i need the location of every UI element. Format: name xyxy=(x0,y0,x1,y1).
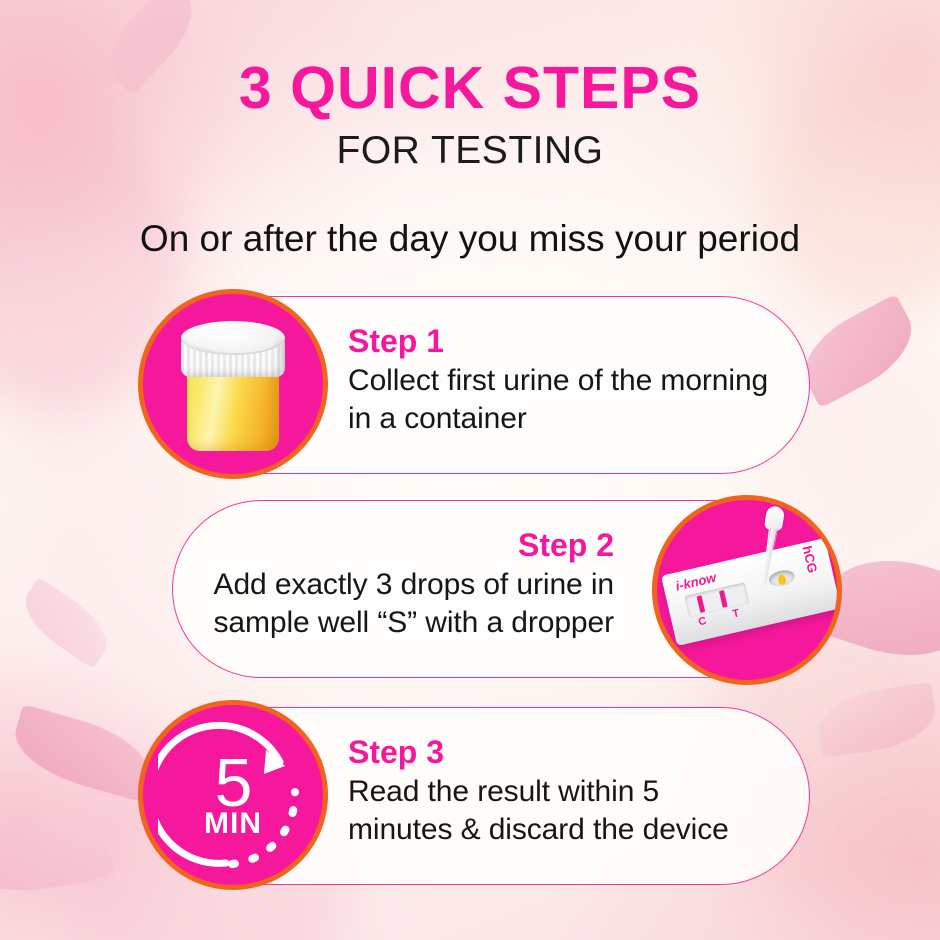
step-text-block: Step 1 Collect first urine of the mornin… xyxy=(348,324,770,438)
hcg-test-device-icon: i-know hCG C T xyxy=(657,500,837,680)
jar-cap-top xyxy=(181,321,285,355)
step-item-1: Step 1 Collect first urine of the mornin… xyxy=(170,296,810,474)
timer-number: 5 xyxy=(215,752,252,815)
steps-list: Step 1 Collect first urine of the mornin… xyxy=(0,0,940,940)
timer-graphic: 5 MIN xyxy=(158,720,308,870)
step-item-3: Step 3 Read the result within 5 minutes … xyxy=(170,707,810,885)
step-item-2: Step 2 Add exactly 3 drops of urine in s… xyxy=(172,500,812,678)
step-description: Read the result within 5 minutes & disca… xyxy=(348,773,770,849)
jar-cap-inner xyxy=(198,330,276,353)
urine-container-icon xyxy=(143,294,323,474)
specimen-jar-graphic xyxy=(177,317,289,451)
device-hormone-label: hCG xyxy=(799,544,820,574)
step-label: Step 3 xyxy=(348,735,770,771)
step-text-block: Step 2 Add exactly 3 drops of urine in s… xyxy=(204,528,614,642)
step-label: Step 1 xyxy=(348,324,770,360)
five-minute-timer-icon: 5 MIN xyxy=(143,705,323,885)
step-description: Collect first urine of the morning in a … xyxy=(348,362,770,438)
test-cassette: i-know hCG C T xyxy=(661,538,837,646)
timer-unit: MIN xyxy=(204,810,262,838)
step-text-block: Step 3 Read the result within 5 minutes … xyxy=(348,735,770,849)
step-description: Add exactly 3 drops of urine in sample w… xyxy=(204,566,614,642)
step-label: Step 2 xyxy=(204,528,614,564)
timer-text: 5 MIN xyxy=(158,720,308,870)
infographic-poster: 3 QUICK STEPS FOR TESTING On or after th… xyxy=(0,0,940,940)
device-graphic: i-know hCG C T xyxy=(657,500,837,680)
dropper-bulb xyxy=(764,505,786,532)
